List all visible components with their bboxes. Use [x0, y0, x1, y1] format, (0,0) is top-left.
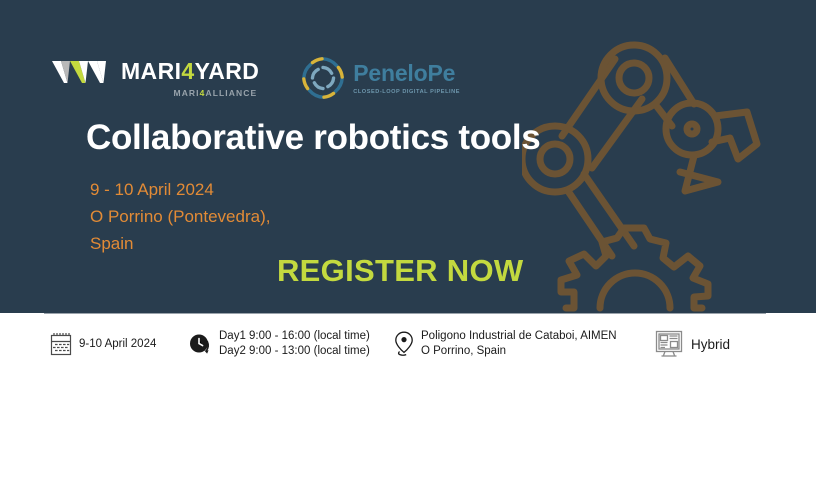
info-time-line1: Day1 9:00 - 16:00 (local time): [219, 329, 370, 344]
mari4alliance-before: MARI: [174, 88, 200, 98]
swirl-mark-icon: [299, 54, 347, 102]
info-place-line2: O Porrino, Spain: [421, 344, 617, 359]
logo-row: MARI4YARD MARI4ALLIANCE: [52, 54, 460, 102]
info-time-line2: Day2 9:00 - 13:00 (local time): [219, 344, 370, 359]
chevron-mark-icon: [52, 59, 112, 85]
event-location-line2: Spain: [90, 230, 270, 257]
monitor-icon: [654, 330, 684, 358]
hero-banner: MARI4YARD MARI4ALLIANCE: [0, 0, 816, 313]
penelope-tagline: CLOSED-LOOP DIGITAL PIPELINE: [353, 89, 460, 95]
event-poster: MARI4YARD MARI4ALLIANCE: [0, 0, 816, 497]
event-meta: 9 - 10 April 2024 O Porrino (Pontevedra)…: [90, 176, 270, 257]
mari4alliance-after: ALLIANCE: [205, 88, 257, 98]
robot-arm-icon: [522, 16, 816, 313]
mari4yard-word-before: MARI: [121, 58, 181, 84]
mari4yard-wordmark: MARI4YARD: [121, 60, 259, 83]
info-item-date: 9-10 April 2024: [50, 332, 156, 356]
clock-icon: [188, 332, 212, 356]
info-date-text: 9-10 April 2024: [79, 337, 156, 352]
calendar-icon: [50, 332, 72, 356]
info-item-time: Day1 9:00 - 16:00 (local time) Day2 9:00…: [188, 329, 370, 359]
info-item-mode: Hybrid: [654, 330, 730, 358]
mari4yard-word-after: YARD: [195, 58, 260, 84]
register-now-button[interactable]: REGISTER NOW: [277, 255, 523, 286]
info-bar: 9-10 April 2024 Day1 9:00 - 16:00 (local…: [0, 314, 816, 374]
mari4yard-accent: 4: [181, 58, 194, 84]
penelope-logo: PeneloPe CLOSED-LOOP DIGITAL PIPELINE: [299, 54, 460, 102]
penelope-wordmark: PeneloPe: [353, 62, 455, 85]
info-place-line1: Poligono Industrial de Cataboi, AIMEN: [421, 329, 617, 344]
info-item-place: Poligono Industrial de Cataboi, AIMEN O …: [394, 329, 617, 359]
mari4alliance-subtitle: MARI4ALLIANCE: [174, 88, 258, 98]
event-location-line1: O Porrino (Pontevedra),: [90, 203, 270, 230]
page-title: Collaborative robotics tools: [86, 120, 540, 155]
map-pin-icon: [394, 331, 414, 357]
event-dates: 9 - 10 April 2024: [90, 176, 270, 203]
mari4yard-logo: MARI4YARD MARI4ALLIANCE: [52, 59, 259, 98]
info-mode-label: Hybrid: [691, 337, 730, 352]
